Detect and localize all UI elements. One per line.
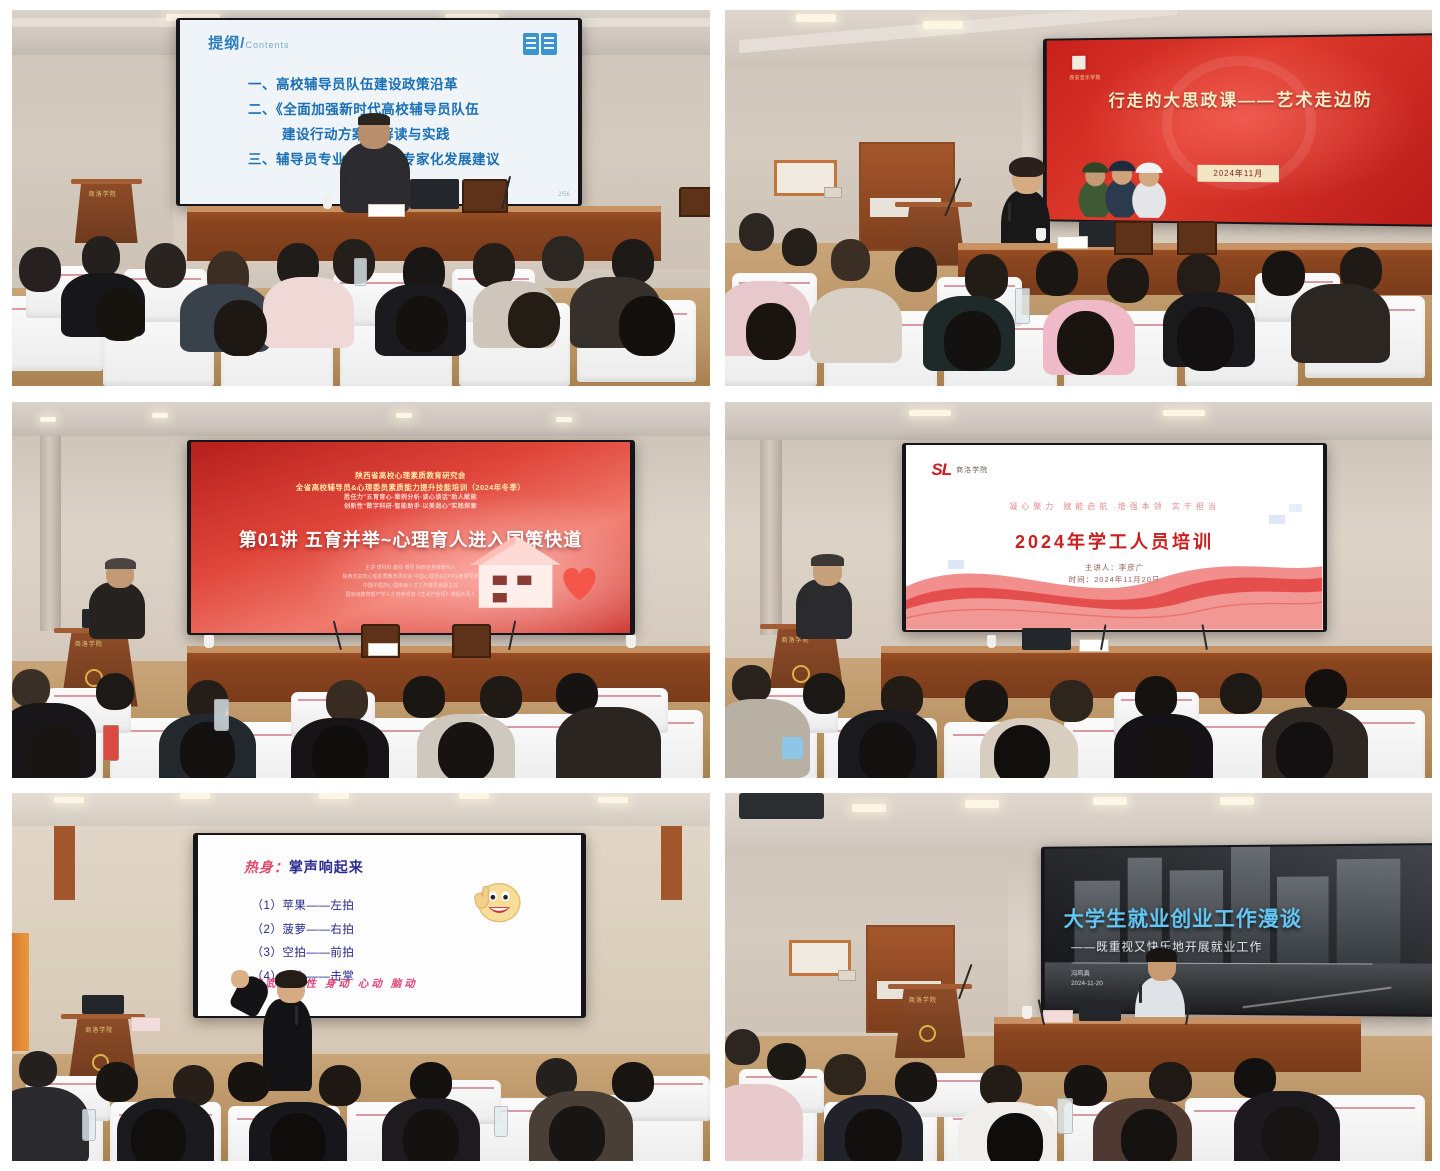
audience-head (82, 236, 120, 277)
audience-head (619, 296, 675, 356)
audience-head (895, 1062, 937, 1102)
water-bottle (1057, 1098, 1073, 1133)
ceiling (725, 402, 1432, 443)
audience-head (319, 1065, 361, 1105)
ceiling-light (40, 417, 56, 422)
water-bottle (354, 258, 367, 286)
ceiling-light (556, 417, 572, 422)
lecture-hall-scene: 热身：掌声响起来 （1）苹果——左拍 （2）菠萝——右拍 （3）空拍——前拍 （… (12, 793, 710, 1161)
slide-meta: 冯鸣真 2024-11-20 (1071, 969, 1103, 990)
podium-top (895, 202, 973, 207)
audience-head (410, 1062, 452, 1102)
logo-text: 商洛学院 (956, 465, 988, 475)
cup (987, 635, 997, 648)
slide-title: 大学生就业创业工作漫谈 (1064, 903, 1302, 933)
led-screen: 大学生就业创业工作漫谈 既重视又快乐地开展就业工作 冯鸣真 2024-11-20 (1041, 843, 1432, 1017)
audience-head (1177, 307, 1234, 371)
screen-surface: 西安音乐学院 行走的大思政课——艺术走边防 2024年11月 (1047, 36, 1432, 226)
head-table-top (881, 646, 1432, 652)
cup (1022, 1006, 1032, 1019)
ceiling-light (965, 800, 999, 808)
photo-4: SL 商洛学院 凝心聚力 赋能启航 增强本领 实干担当 2024年学工人员培训 … (725, 402, 1432, 778)
podium-top (888, 984, 973, 989)
audience-head (19, 247, 61, 292)
logo-text: 西安音乐学院 (1070, 75, 1095, 82)
podium-label: 商洛学院 (909, 995, 937, 1004)
presenter-hair (275, 970, 307, 988)
photo-collage: 提纲/Contents 一、 (0, 0, 1440, 1171)
audience-head (1107, 258, 1149, 303)
org-line-1: 陕西省高校心理素质教育研究会 (191, 470, 629, 482)
ceiling-light (796, 14, 836, 22)
audience-head (214, 300, 266, 356)
audience-head (845, 1109, 902, 1161)
photo-5: 热身：掌声响起来 （1）苹果——左拍 （2）菠萝——右拍 （3）空拍——前拍 （… (12, 793, 710, 1161)
audience-head (965, 254, 1007, 299)
institution-logo: SL 商洛学院 (931, 460, 988, 480)
chair-back (1114, 221, 1153, 255)
ceiling-light (54, 797, 84, 803)
wave-decoration (906, 528, 1322, 629)
speaker-hair (105, 558, 136, 569)
audience-head (438, 722, 494, 778)
audience-head (145, 243, 187, 288)
name-card (1043, 1010, 1073, 1023)
slide-date-badge: 2024年11月 (1198, 165, 1280, 183)
presenter-hand (231, 970, 249, 988)
decor-square (1269, 515, 1285, 524)
audience-head (739, 213, 774, 251)
ceiling-light (1163, 410, 1205, 416)
audience-head (803, 673, 845, 714)
lecture-hall-scene: SL 商洛学院 凝心聚力 赋能启航 增强本领 实干担当 2024年学工人员培训 … (725, 402, 1432, 778)
chair-back (452, 624, 491, 658)
audience-head (326, 680, 368, 721)
handheld-microphone (1139, 984, 1142, 1002)
logo-mark (1070, 53, 1089, 73)
author: 冯鸣真 (1071, 969, 1103, 979)
laptop (410, 179, 459, 209)
audience-head (824, 1054, 866, 1094)
slide-title: 行走的大思政课——艺术走边防 (1047, 85, 1432, 112)
ceiling (12, 402, 710, 440)
org-line-2: 全省高校辅导员&心理委员素质能力提升技能培训（2024年冬季） (191, 482, 629, 494)
audience-head (96, 1062, 138, 1102)
activity-item: （3）空拍——前拍 (251, 942, 354, 966)
audience-head (96, 673, 134, 711)
ceiling-light (319, 793, 349, 799)
audience-head (994, 725, 1051, 778)
audience-head (1220, 673, 1262, 714)
handheld-microphone (295, 1006, 298, 1024)
phone (782, 737, 803, 760)
slide-motto: 凝心聚力 赋能启航 增强本领 实干担当 (906, 501, 1322, 512)
slide-title-en: Contents (245, 40, 289, 50)
title-prefix: 热身： (244, 859, 289, 875)
slide-title-cn: 提纲 (208, 35, 240, 52)
laptop (82, 995, 124, 1013)
ceiling-light (152, 413, 168, 418)
photo-6: 大学生就业创业工作漫谈 既重视又快乐地开展就业工作 冯鸣真 2024-11-20… (725, 793, 1432, 1161)
ceiling-light (598, 797, 628, 803)
audience-body (556, 707, 661, 778)
cup (323, 194, 333, 209)
speaker-body (796, 579, 853, 639)
projection-screen: SL 商洛学院 凝心聚力 赋能启航 增强本领 实干担当 2024年学工人员培训 … (902, 443, 1328, 631)
audience-head (19, 1051, 57, 1088)
pillar (760, 440, 781, 636)
name-card (131, 1017, 161, 1032)
projection-screen: 西安音乐学院 行走的大思政课——艺术走边防 2024年11月 (1043, 33, 1432, 227)
audience-body (263, 277, 354, 348)
audience-head (1036, 251, 1078, 296)
sub-line-1: 胜任力"五育育心·案例分析·谈心谈话"助人赋能 (191, 494, 629, 503)
sub-line-2: 创新性"数字科研·智能助手·以美润心"实践探索 (191, 503, 629, 512)
title-main: 掌声响起来 (289, 859, 364, 875)
audience-head (1262, 1106, 1319, 1161)
audience-head (403, 1109, 459, 1161)
slide-org-header: 陕西省高校心理素质教育研究会 全省高校辅导员&心理委员素质能力提升技能培训（20… (191, 470, 629, 511)
handheld-microphone (1008, 202, 1011, 221)
activity-item: （2）菠萝——右拍 (251, 919, 354, 943)
contents-item: 一、高校辅导员队伍建设政策沿革 (248, 73, 500, 98)
institution-logo: 西安音乐学院 (1070, 53, 1095, 82)
slide-white-wave: SL 商洛学院 凝心聚力 赋能启航 增强本领 实干担当 2024年学工人员培训 … (906, 445, 1322, 629)
wall-switch (824, 187, 842, 199)
date: 2024-11-20 (1071, 979, 1103, 989)
water-bottle (103, 725, 119, 761)
ceiling-light (459, 793, 489, 799)
screen-surface: 大学生就业创业工作漫谈 既重视又快乐地开展就业工作 冯鸣真 2024-11-20 (1045, 845, 1432, 1015)
slide-dark-city: 大学生就业创业工作漫谈 既重视又快乐地开展就业工作 冯鸣真 2024-11-20 (1045, 845, 1432, 1015)
audience-head (965, 680, 1007, 721)
audience-head (859, 722, 916, 778)
water-bottle (82, 1109, 97, 1140)
lecture-hall-scene: 西安音乐学院 行走的大思政课——艺术走边防 2024年11月 (725, 10, 1432, 386)
photo-1: 提纲/Contents 一、 (12, 10, 710, 386)
audience-head (96, 288, 145, 341)
audience-head (131, 1109, 187, 1161)
audience-head (1262, 251, 1304, 296)
audience-head (549, 1106, 605, 1161)
laptop (1022, 628, 1071, 651)
projector (739, 793, 824, 819)
slide-training-title: 陕西省高校心理素质教育研究会 全省高校辅导员&心理委员素质能力提升技能培训（20… (191, 442, 629, 634)
audience-head (725, 1029, 760, 1066)
audience-head (1135, 676, 1177, 717)
ceiling-light (1093, 797, 1127, 805)
pillar (54, 826, 75, 900)
lecture-hall-scene: 大学生就业创业工作漫谈 既重视又快乐地开展就业工作 冯鸣真 2024-11-20… (725, 793, 1432, 1161)
wall-switch (838, 970, 856, 982)
podium-label: 商洛学院 (85, 1025, 113, 1034)
ceiling-light (180, 793, 210, 799)
handheld-microphone (800, 590, 803, 609)
chair-back (679, 187, 710, 217)
audience-head (782, 228, 817, 266)
decor-square (948, 560, 964, 569)
slide-title: 提纲/Contents (208, 32, 289, 53)
photo-3: 陕西省高校心理素质教育研究会 全省高校辅导员&心理委员素质能力提升技能培训（20… (12, 402, 710, 778)
speaker-body (89, 582, 145, 638)
podium-top (71, 179, 142, 184)
audience-head (228, 1062, 270, 1102)
speaker-hair (1146, 948, 1177, 963)
audience-head (944, 311, 1001, 371)
audience-body (12, 1087, 89, 1161)
audience-head (508, 292, 560, 348)
water-bottle (1015, 288, 1030, 324)
audience-head (895, 247, 937, 292)
podium-label: 商洛学院 (75, 639, 103, 648)
audience-head (542, 236, 584, 281)
audience-head (1050, 680, 1092, 721)
logo-mark: SL (931, 460, 951, 480)
chair-back (1177, 221, 1216, 255)
ceiling-light (852, 804, 886, 812)
audience-head (612, 1062, 654, 1102)
lecture-hall-scene: 陕西省高校心理素质教育研究会 全省高校辅导员&心理委员素质能力提升技能培训（20… (12, 402, 710, 778)
photo-2: 西安音乐学院 行走的大思政课——艺术走边防 2024年11月 (725, 10, 1432, 386)
pillar (40, 436, 61, 632)
ceiling-light (396, 413, 412, 418)
slide-page-number: 2/56 (558, 192, 570, 198)
name-card (368, 204, 405, 217)
slide-red-title: 西安音乐学院 行走的大思政课——艺术走边防 2024年11月 (1047, 36, 1432, 226)
podium-label: 商洛学院 (89, 189, 117, 198)
laptop (1079, 1003, 1121, 1021)
cup (204, 635, 214, 648)
audience-head (396, 296, 448, 352)
audience-head (767, 1043, 806, 1080)
audience-head (987, 1113, 1044, 1161)
speaker-hair (358, 113, 390, 124)
name-card (368, 643, 398, 656)
decor-square (1289, 504, 1302, 512)
audience-head (1276, 722, 1333, 778)
cup (626, 635, 636, 648)
ceiling-light (1220, 797, 1254, 805)
activity-item: （1）苹果——左拍 (251, 895, 354, 919)
presenter-body (263, 999, 312, 1091)
audience-head (1135, 725, 1192, 778)
audience-head (1305, 669, 1347, 710)
pillar (661, 826, 682, 900)
audience-head (732, 665, 771, 703)
building (1336, 858, 1400, 977)
smiley-thumbs-up-icon (463, 881, 528, 928)
ceiling-light (923, 21, 963, 29)
audience-body (810, 288, 902, 363)
screen-surface: SL 商洛学院 凝心聚力 赋能启航 增强本领 实干担当 2024年学工人员培训 … (906, 445, 1322, 629)
speaker-hair (1009, 157, 1044, 178)
audience-head (1149, 1062, 1191, 1102)
audience-head (831, 239, 870, 280)
curtain (12, 933, 29, 1051)
screen-surface: 陕西省高校心理素质教育研究会 全省高校辅导员&心理委员素质能力提升技能培训（20… (191, 442, 629, 634)
water-bottle (214, 699, 229, 731)
cup (1036, 228, 1046, 241)
audience-body (725, 1084, 803, 1161)
soldiers-photo-icon (1066, 149, 1180, 219)
audience-head (480, 676, 522, 717)
speaker-hair (811, 554, 844, 565)
audience-head (26, 725, 82, 778)
name-card (1079, 639, 1109, 652)
heart-illustration (551, 561, 608, 603)
audience-head (270, 1113, 326, 1161)
lecture-hall-scene: 提纲/Contents 一、 (12, 10, 710, 386)
audience-head (980, 1065, 1022, 1105)
book-icon (522, 31, 558, 57)
audience-body (1291, 284, 1390, 363)
led-screen: 陕西省高校心理素质教育研究会 全省高校辅导员&心理委员素质能力提升技能培训（20… (187, 440, 635, 636)
audience-head (1057, 311, 1114, 375)
audience-head (1121, 1109, 1178, 1161)
slide-title: 热身：掌声响起来 (244, 857, 364, 877)
name-card (1057, 236, 1087, 249)
ceiling-light (909, 410, 951, 416)
audience-head (403, 676, 445, 717)
audience-head (746, 303, 795, 359)
water-bottle (494, 1106, 509, 1137)
audience-head (12, 669, 50, 707)
audience-head (312, 725, 368, 778)
